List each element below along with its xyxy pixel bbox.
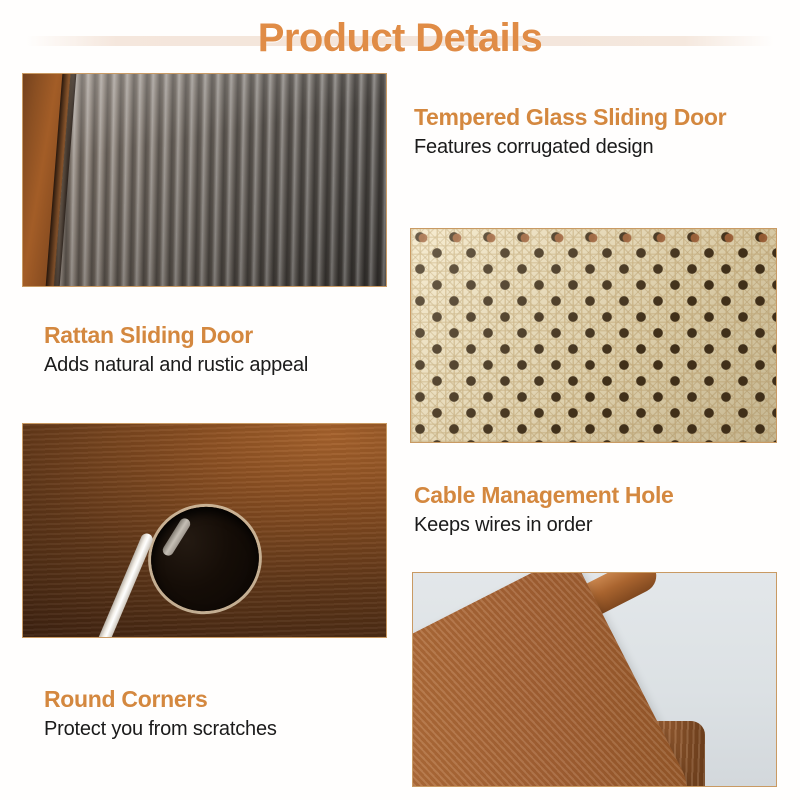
feature-block-round-corners: Round Corners Protect you from scratches bbox=[44, 686, 394, 741]
page-title: Product Details bbox=[0, 16, 800, 61]
feature-block-rattan: Rattan Sliding Door Adds natural and rus… bbox=[44, 322, 394, 377]
feature-block-tempered-glass: Tempered Glass Sliding Door Features cor… bbox=[414, 104, 774, 159]
feature-heading-rattan: Rattan Sliding Door bbox=[44, 322, 394, 349]
round-corner-image bbox=[412, 572, 777, 787]
feature-heading-round-corners: Round Corners bbox=[44, 686, 394, 713]
feature-description-tempered-glass: Features corrugated design bbox=[414, 135, 774, 159]
feature-heading-tempered-glass: Tempered Glass Sliding Door bbox=[414, 104, 774, 131]
rattan-door-image bbox=[410, 228, 777, 443]
product-details-infographic: Product Details Tempered Glass Sliding D… bbox=[0, 0, 800, 800]
glass-sheen-overlay bbox=[23, 74, 386, 286]
rattan-shading-overlay bbox=[411, 229, 776, 442]
tempered-glass-door-image bbox=[22, 73, 387, 287]
cable-management-hole-image bbox=[22, 423, 387, 638]
feature-description-rattan: Adds natural and rustic appeal bbox=[44, 353, 394, 377]
feature-description-round-corners: Protect you from scratches bbox=[44, 717, 394, 741]
feature-block-cable-management: Cable Management Hole Keeps wires in ord… bbox=[414, 482, 774, 537]
feature-description-cable-management: Keeps wires in order bbox=[414, 513, 774, 537]
feature-heading-cable-management: Cable Management Hole bbox=[414, 482, 774, 509]
